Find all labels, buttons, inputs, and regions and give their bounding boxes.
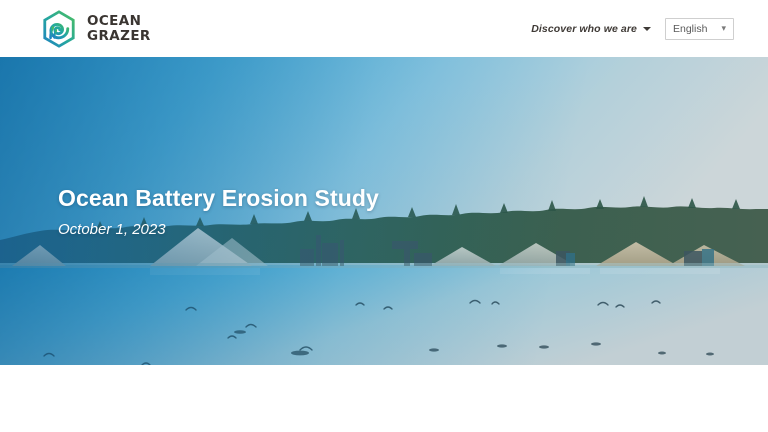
brand-line-2: Grazer <box>87 29 151 43</box>
site-header: Ocean Grazer Discover who we are English… <box>0 0 768 57</box>
language-select[interactable]: English ▾ <box>665 18 734 40</box>
nav-item-discover-who-we-are[interactable]: Discover who we are <box>531 23 651 35</box>
hero-banner: Ocean Battery Erosion Study October 1, 2… <box>0 57 768 365</box>
brand-logo-link[interactable]: Ocean Grazer <box>40 9 151 49</box>
nav-item-label: Discover who we are <box>531 23 637 35</box>
page-body-area <box>0 365 768 432</box>
hero-text-block: Ocean Battery Erosion Study October 1, 2… <box>58 185 379 238</box>
brand-line-1: Ocean <box>87 14 151 28</box>
brand-wordmark: Ocean Grazer <box>87 14 151 42</box>
header-right-group: Discover who we are English ▾ <box>531 18 734 40</box>
publish-date: October 1, 2023 <box>58 221 379 238</box>
page-title: Ocean Battery Erosion Study <box>58 185 379 212</box>
chevron-down-icon: ▾ <box>721 24 726 33</box>
page-root: Ocean Grazer Discover who we are English… <box>0 0 768 432</box>
language-select-value: English <box>673 23 707 35</box>
chevron-down-icon <box>643 27 651 31</box>
ocean-grazer-hexagon-wave-logo-icon <box>40 9 78 49</box>
